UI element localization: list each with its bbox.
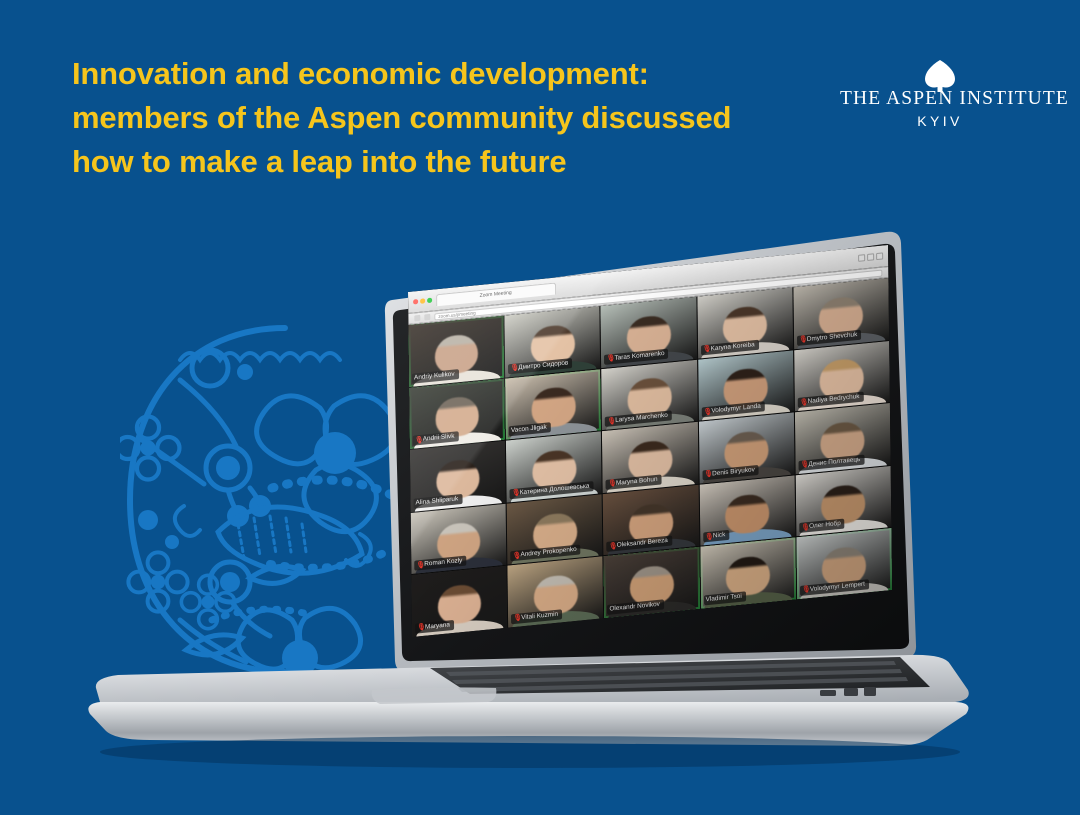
mic-muted-icon: 🎙	[512, 490, 517, 497]
mic-muted-icon: 🎙	[703, 346, 708, 353]
mic-muted-icon: 🎙	[415, 437, 420, 444]
participant-tile[interactable]: 🎙Andrey Prokopenko	[507, 494, 603, 565]
participant-tile[interactable]: Alina Shlіparuk	[410, 441, 506, 512]
participant-tile[interactable]: 🎙Andrii Slivk	[409, 378, 505, 449]
participant-tile[interactable]: 🎙Катерина Долошевська	[506, 431, 602, 502]
participant-tile[interactable]: 🎙Дмитро Сидоров	[505, 306, 601, 377]
mic-muted-icon: 🎙	[608, 480, 613, 487]
laptop-screen: Zoom Meeting zoom.us/j/meeting Andriy Ku…	[408, 245, 892, 637]
mic-muted-icon: 🎙	[512, 552, 517, 559]
participant-tile[interactable]: 🎙Volodymyr Landa	[698, 350, 794, 421]
participant-tile[interactable]: 🎙Oleksandr Bereza	[603, 485, 699, 556]
participant-tile[interactable]: 🎙Larysa Marchenko	[602, 359, 698, 430]
participant-tile[interactable]: 🎙Денис Полтавець	[795, 403, 891, 474]
mic-muted-icon: 🎙	[416, 562, 421, 569]
participant-tile[interactable]: 🎙Denis Biryukov	[698, 413, 794, 484]
mic-muted-icon: 🎙	[417, 625, 422, 632]
participant-tile[interactable]: Vladimir Tsoi	[700, 538, 796, 609]
participant-tile[interactable]: 🎙Volodymyr Lempert	[796, 528, 892, 599]
mic-muted-icon: 🎙	[704, 471, 709, 478]
poster-canvas: Innovation and economic development: mem…	[0, 0, 1080, 815]
participant-tile[interactable]: Vacon Jligak	[505, 369, 601, 440]
participant-tile[interactable]: 🎙Олег Нобр	[795, 466, 891, 537]
window-traffic-lights[interactable]	[413, 298, 432, 304]
forward-icon[interactable]	[424, 314, 430, 321]
participant-tile[interactable]: 🎙Dmytro Shevchuk	[793, 278, 889, 349]
participant-tile[interactable]: 🎙Taras Komarenko	[601, 297, 697, 368]
mic-muted-icon: 🎙	[607, 418, 612, 425]
participant-tile[interactable]: 🎙Nadiya Bedrychuk	[794, 341, 890, 412]
window-controls[interactable]	[858, 252, 883, 261]
participant-tile[interactable]: Andriy Kulikov	[408, 316, 504, 387]
mic-muted-icon: 🎙	[510, 365, 515, 372]
mic-muted-icon: 🎙	[800, 399, 805, 406]
participant-tile[interactable]: 🎙Nick	[699, 475, 795, 546]
participant-tile[interactable]: 🎙Roman Kozly	[411, 503, 507, 574]
mic-muted-icon: 🎙	[705, 534, 710, 541]
participant-tile[interactable]: 🎙Vitali Kuzmin	[508, 557, 604, 628]
back-icon[interactable]	[414, 315, 420, 322]
participant-tile[interactable]: 🎙Maryna Bohun	[602, 422, 698, 493]
participant-tile[interactable]: 🎙Maryana	[411, 566, 507, 637]
mic-muted-icon: 🎙	[609, 543, 614, 550]
mic-muted-icon: 🎙	[606, 355, 611, 362]
mic-muted-icon: 🎙	[703, 408, 708, 415]
zoom-participant-grid: Andriy Kulikov🎙Дмитро Сидоров🎙Taras Koma…	[408, 278, 892, 637]
participant-tile[interactable]: 🎙Karyna Koreiba	[697, 287, 793, 358]
mic-muted-icon: 🎙	[800, 462, 805, 469]
mic-muted-icon: 🎙	[801, 524, 806, 531]
mic-muted-icon: 🎙	[802, 587, 807, 594]
mic-muted-icon: 🎙	[799, 336, 804, 343]
participant-name: Maryana	[425, 621, 450, 631]
participant-name: Nick	[713, 532, 726, 541]
mic-muted-icon: 🎙	[513, 615, 518, 622]
laptop-device: Zoom Meeting zoom.us/j/meeting Andriy Ku…	[0, 0, 1080, 815]
participant-tile[interactable]: Olexandr Novikov	[604, 547, 700, 618]
